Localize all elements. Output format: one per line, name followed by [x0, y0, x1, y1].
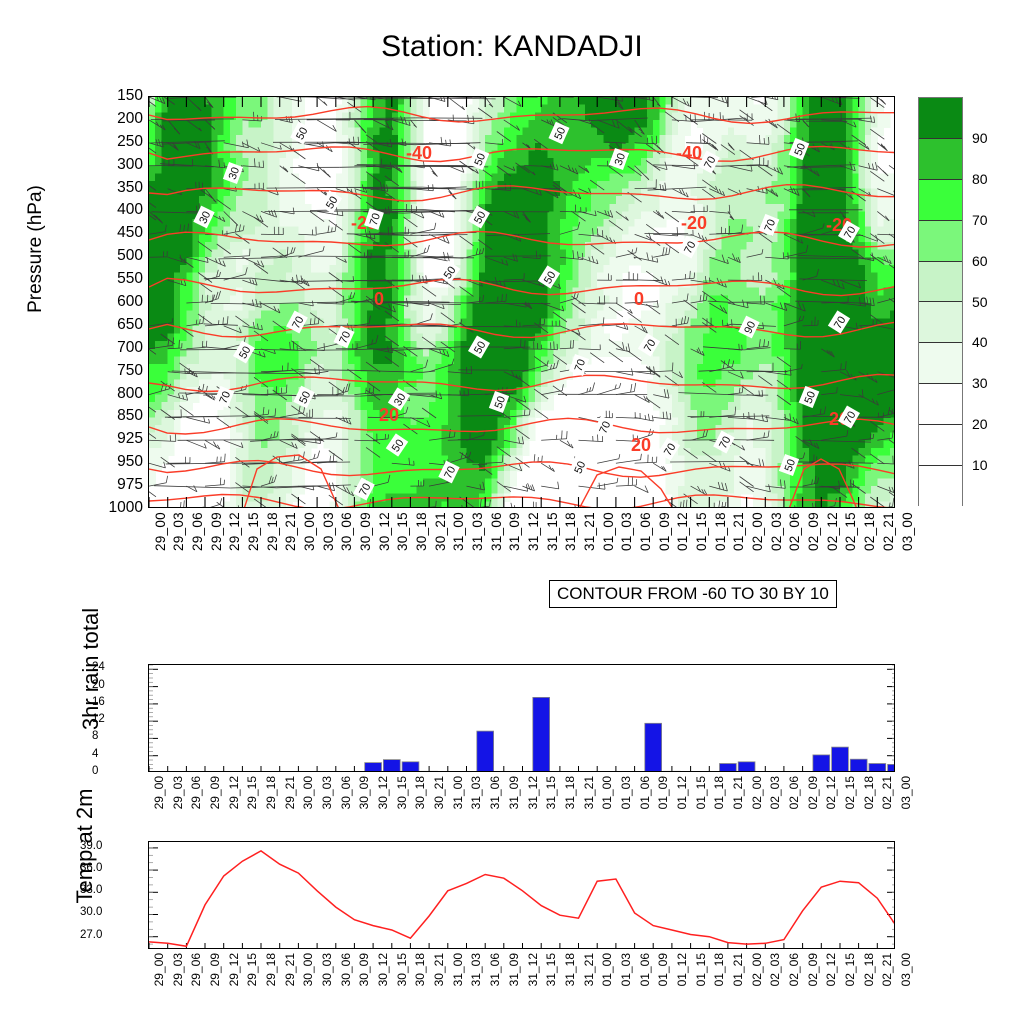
time-tick-label: 31_18	[563, 776, 577, 809]
pressure-tick-label: 650	[60, 317, 143, 333]
time-tick-label: 29_06	[189, 776, 203, 809]
rain-tick-label: 4	[92, 749, 143, 761]
colorbar-tick-label: 90	[972, 130, 988, 146]
time-tick-label: 30_18	[413, 953, 427, 986]
pressure-tick-label: 350	[60, 180, 143, 196]
rain-bars	[365, 697, 895, 772]
time-tick-label: 31_09	[507, 953, 521, 986]
time-tick-label: 31_12	[526, 512, 541, 551]
time-tick-label: 02_21	[880, 776, 894, 809]
time-tick-label: 02_03	[768, 953, 782, 986]
pressure-tick-label: 800	[60, 386, 143, 402]
colorbar-tick-label: 70	[972, 212, 988, 228]
time-tick-label: 31_21	[582, 953, 596, 986]
time-tick-label: 29_09	[209, 512, 224, 551]
time-tick-label: 29_00	[152, 953, 166, 986]
pressure-tick-label: 950	[60, 454, 143, 470]
rain-bar	[477, 731, 494, 772]
time-tick-label: 02_09	[806, 776, 820, 809]
temp-tick-label: 30.0	[80, 907, 143, 919]
time-tick-label: 30_00	[302, 512, 317, 551]
time-tick-label: 29_21	[283, 776, 297, 809]
colorbar-tick-label: 60	[972, 253, 988, 269]
time-tick-label: 02_03	[769, 512, 784, 551]
time-tick-label: 29_18	[264, 953, 278, 986]
colorbar-tick-label: 30	[972, 375, 988, 391]
time-tick-label: 31_03	[470, 512, 485, 551]
rain-bar	[813, 755, 830, 772]
time-tick-label: 01_03	[619, 776, 633, 809]
rain-bar	[720, 764, 737, 773]
pressure-tick-label: 850	[60, 408, 143, 424]
colorbar-cell	[919, 425, 962, 466]
time-tick-label: 30_21	[432, 776, 446, 809]
time-tick-label: 30_21	[432, 953, 446, 986]
time-tick-label: 02_18	[862, 953, 876, 986]
time-tick-label: 29_15	[246, 512, 261, 551]
temp-line	[149, 851, 895, 946]
time-tick-label: 29_06	[190, 512, 205, 551]
time-tick-label: 02_18	[862, 776, 876, 809]
time-tick-label: 01_00	[601, 512, 616, 551]
time-tick-label: 31_03	[469, 776, 483, 809]
colorbar-cell	[919, 384, 962, 425]
time-tick-label: 02_18	[862, 512, 877, 551]
rain-bar	[365, 763, 382, 772]
time-tick-label: 02_12	[824, 776, 838, 809]
pressure-tick-label: 975	[60, 477, 143, 493]
time-tick-label: 02_03	[768, 776, 782, 809]
time-tick-label: 30_12	[376, 776, 390, 809]
time-tick-label: 02_21	[881, 512, 896, 551]
time-tick-label: 29_18	[265, 512, 280, 551]
time-tick-label: 30_03	[321, 512, 336, 551]
colorbar-tick-labels: 102030405060708090	[972, 97, 1022, 506]
page-title: Station: KANDADJI	[0, 30, 1024, 64]
humidity-fill-layer	[149, 97, 895, 508]
time-tick-label: 31_06	[489, 512, 504, 551]
time-tick-label: 01_15	[694, 953, 708, 986]
pressure-tick-label: 500	[60, 248, 143, 264]
time-tick-label: 31_15	[545, 512, 560, 551]
time-tick-label: 01_12	[675, 512, 690, 551]
time-tick-label: 29_00	[153, 512, 168, 551]
temp-canvas	[149, 842, 895, 949]
time-tick-label: 30_00	[301, 776, 315, 809]
time-tick-label: 29_09	[208, 953, 222, 986]
rain-bar	[869, 764, 886, 773]
time-tick-label: 30_00	[301, 953, 315, 986]
time-tick-label: 31_12	[526, 776, 540, 809]
rain-bar-chart	[148, 664, 895, 772]
time-tick-label: 30_06	[339, 512, 354, 551]
time-tick-label: 30_03	[320, 953, 334, 986]
colorbar-cell	[919, 302, 962, 343]
temp-tick-label: 39.0	[80, 841, 143, 853]
time-tick-label: 31_21	[582, 776, 596, 809]
temp-tick-label: 36.0	[80, 863, 143, 875]
time-tick-label: 02_00	[750, 512, 765, 551]
pressure-tick-label: 300	[60, 157, 143, 173]
time-tick-label: 02_15	[843, 512, 858, 551]
time-tick-label: 03_00	[899, 953, 913, 986]
time-tick-label: 31_09	[507, 512, 522, 551]
time-tick-label: 01_21	[731, 512, 746, 551]
temp-y-axis-ticks: 27.030.033.036.039.0	[80, 841, 143, 949]
time-tick-label: 01_09	[657, 512, 672, 551]
time-tick-label: 31_00	[451, 512, 466, 551]
rain-bar	[421, 771, 438, 772]
time-tick-label: 02_00	[750, 776, 764, 809]
time-tick-label: 02_09	[806, 512, 821, 551]
time-tick-label: 03_00	[899, 776, 913, 809]
time-tick-label: 01_18	[712, 776, 726, 809]
pressure-tick-label: 600	[60, 294, 143, 310]
rain-y-axis-ticks: 04812162024	[92, 664, 143, 772]
colorbar-cell	[919, 98, 962, 139]
time-tick-label: 29_12	[227, 953, 241, 986]
time-tick-label: 31_15	[544, 776, 558, 809]
time-tick-label: 02_09	[806, 953, 820, 986]
rain-tick-label: 12	[92, 714, 143, 726]
rain-bar	[738, 762, 755, 772]
time-tick-label: 30_21	[433, 512, 448, 551]
rain-canvas	[149, 665, 895, 772]
rain-bar	[832, 747, 849, 772]
rain-bar	[664, 771, 681, 772]
time-tick-label: 01_21	[731, 776, 745, 809]
time-tick-label: 29_00	[152, 776, 166, 809]
time-tick-label: 02_06	[787, 512, 802, 551]
time-tick-label: 01_12	[675, 776, 689, 809]
time-tick-label: 30_06	[339, 776, 353, 809]
colorbar-cell	[919, 343, 962, 384]
temp-x-axis-labels: 29_0029_0329_0629_0929_1229_1529_1829_21…	[148, 953, 895, 1017]
time-tick-label: 29_15	[245, 776, 259, 809]
pressure-tick-label: 750	[60, 363, 143, 379]
temp-tick-label: 33.0	[80, 885, 143, 897]
time-tick-label: 03_00	[900, 512, 915, 551]
colorbar-cell	[919, 139, 962, 180]
time-tick-label: 01_21	[731, 953, 745, 986]
pressure-tick-label: 150	[60, 88, 143, 104]
time-tick-label: 29_03	[171, 776, 185, 809]
time-tick-label: 31_12	[526, 953, 540, 986]
time-tick-label: 01_15	[694, 776, 708, 809]
colorbar-tick-label: 40	[972, 334, 988, 350]
rain-tick-label: 20	[92, 680, 143, 692]
time-tick-label: 02_00	[750, 953, 764, 986]
pressure-tick-label: 700	[60, 340, 143, 356]
humidity-colorbar	[918, 97, 963, 506]
pressure-tick-label: 550	[60, 271, 143, 287]
time-tick-label: 31_18	[563, 512, 578, 551]
rain-tick-label: 16	[92, 697, 143, 709]
time-tick-label: 02_12	[824, 953, 838, 986]
time-tick-label: 30_15	[395, 512, 410, 551]
colorbar-cell	[919, 180, 962, 221]
time-tick-label: 01_06	[638, 512, 653, 551]
time-tick-label: 02_15	[843, 953, 857, 986]
time-tick-label: 01_12	[675, 953, 689, 986]
time-tick-label: 29_18	[264, 776, 278, 809]
pressure-tick-label: 250	[60, 134, 143, 150]
time-tick-label: 30_06	[339, 953, 353, 986]
colorbar-tick-label: 50	[972, 294, 988, 310]
time-tick-label: 30_15	[395, 953, 409, 986]
main-x-axis-labels: 29_0029_0329_0629_0929_1229_1529_1829_21…	[148, 512, 895, 584]
time-tick-label: 31_18	[563, 953, 577, 986]
time-tick-label: 01_03	[619, 953, 633, 986]
rain-bar	[533, 697, 550, 772]
rain-bar	[645, 723, 662, 772]
contour-note: CONTOUR FROM -60 TO 30 BY 10	[549, 580, 837, 608]
colorbar-tick-label: 80	[972, 171, 988, 187]
time-tick-label: 31_06	[488, 776, 502, 809]
time-tick-label: 01_09	[656, 776, 670, 809]
time-tick-label: 31_00	[451, 953, 465, 986]
main-y-axis-label: Pressure (hPa)	[25, 109, 47, 389]
time-tick-label: 01_18	[712, 953, 726, 986]
time-tick-label: 01_03	[619, 512, 634, 551]
time-tick-label: 30_09	[357, 953, 371, 986]
colorbar-cell	[919, 262, 962, 303]
rain-bar	[402, 762, 419, 772]
time-tick-label: 31_09	[507, 776, 521, 809]
time-tick-label: 01_00	[600, 953, 614, 986]
time-tick-label: 29_12	[227, 776, 241, 809]
time-tick-label: 01_06	[638, 953, 652, 986]
time-tick-label: 30_12	[377, 512, 392, 551]
time-tick-label: 30_03	[320, 776, 334, 809]
time-tick-label: 01_18	[713, 512, 728, 551]
rain-x-axis-labels: 29_0029_0329_0629_0929_1229_1529_1829_21…	[148, 776, 895, 840]
colorbar-tick-label: 10	[972, 457, 988, 473]
time-tick-label: 01_00	[600, 776, 614, 809]
time-tick-label: 02_15	[843, 776, 857, 809]
time-tick-label: 02_21	[880, 953, 894, 986]
time-tick-label: 31_00	[451, 776, 465, 809]
rain-bar	[383, 760, 400, 772]
time-tick-label: 30_18	[414, 512, 429, 551]
time-tick-label: 31_06	[488, 953, 502, 986]
contour-canvas: -40-40-20-20-2000202020 5030305070505050…	[149, 97, 895, 508]
time-tick-label: 31_03	[469, 953, 483, 986]
time-tick-label: 01_06	[638, 776, 652, 809]
time-tick-label: 29_03	[171, 953, 185, 986]
time-tick-label: 01_09	[656, 953, 670, 986]
time-tick-label: 30_12	[376, 953, 390, 986]
time-tick-label: 31_15	[544, 953, 558, 986]
pressure-tick-label: 1000	[60, 500, 143, 516]
time-tick-label: 29_15	[245, 953, 259, 986]
rain-bar	[888, 764, 895, 772]
time-tick-label: 29_03	[171, 512, 186, 551]
colorbar-cell	[919, 221, 962, 262]
pressure-tick-label: 400	[60, 202, 143, 218]
colorbar-tick-label: 20	[972, 416, 988, 432]
time-tick-label: 29_21	[283, 512, 298, 551]
time-tick-label: 02_06	[787, 953, 801, 986]
temp-line-chart	[148, 841, 895, 949]
temp-tick-label: 27.0	[80, 930, 143, 942]
rain-bar	[850, 759, 867, 772]
time-tick-label: 02_12	[825, 512, 840, 551]
time-tick-label: 29_21	[283, 953, 297, 986]
pressure-tick-label: 450	[60, 225, 143, 241]
rain-tick-label: 24	[92, 662, 143, 674]
time-tick-label: 31_21	[582, 512, 597, 551]
time-tick-label: 30_09	[358, 512, 373, 551]
rain-tick-label: 8	[92, 731, 143, 743]
time-tick-label: 30_15	[395, 776, 409, 809]
main-y-axis-ticks: 1502002503003504004505005506006507007508…	[60, 96, 143, 508]
time-tick-label: 29_06	[189, 953, 203, 986]
time-tick-label: 30_18	[413, 776, 427, 809]
time-tick-label: 01_15	[694, 512, 709, 551]
rain-tick-label: 0	[92, 766, 143, 778]
pressure-tick-label: 200	[60, 111, 143, 127]
humidity-time-height-plot: -40-40-20-20-2000202020 5030305070505050…	[148, 96, 895, 508]
time-tick-label: 30_09	[357, 776, 371, 809]
pressure-tick-label: 925	[60, 431, 143, 447]
time-tick-label: 02_06	[787, 776, 801, 809]
time-tick-label: 29_09	[208, 776, 222, 809]
colorbar-cell	[919, 466, 962, 507]
time-tick-label: 29_12	[227, 512, 242, 551]
